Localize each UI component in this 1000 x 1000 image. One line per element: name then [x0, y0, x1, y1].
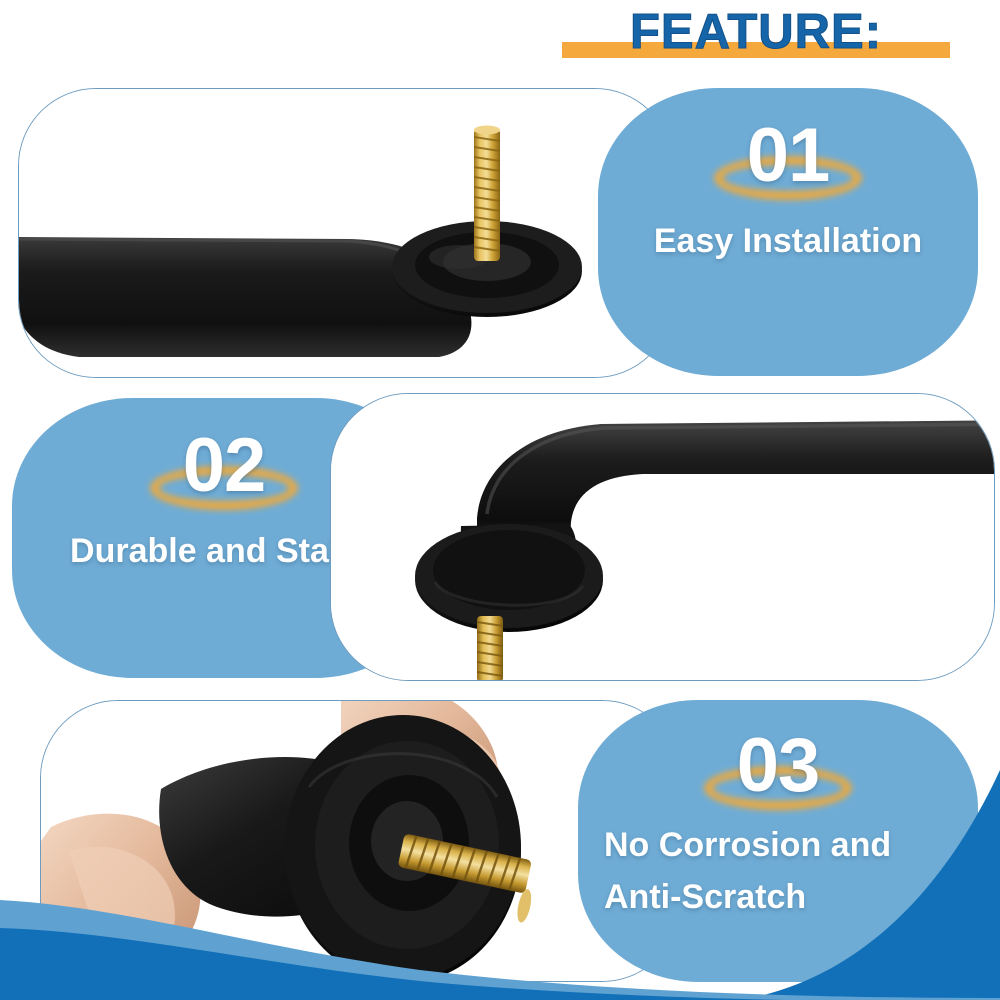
feature-caption-1: Easy Installation: [598, 220, 978, 262]
feature-card-1[interactable]: 01 Easy Installation: [598, 88, 978, 376]
title-block: FEATURE:: [556, 4, 956, 66]
feature-number-3: 03: [737, 720, 820, 812]
product-photo-panel-1: [18, 88, 673, 378]
feature-number-wrap-1: 01: [598, 110, 978, 206]
feature-infographic-page: FEATURE:: [0, 0, 1000, 1000]
product-photo-1-artwork: [19, 89, 673, 378]
feature-caption-3-line-1: No Corrosion and: [578, 824, 978, 866]
feature-number-1: 01: [747, 110, 830, 202]
header: FEATURE:: [0, 0, 1000, 72]
page-title: FEATURE:: [556, 4, 956, 60]
feature-number-wrap-3: 03: [578, 720, 978, 814]
product-photo-2-artwork: [331, 394, 995, 681]
feature-card-3[interactable]: 03 No Corrosion and Anti-Scratch: [578, 700, 978, 982]
product-photo-panel-2: [330, 393, 995, 681]
feature-number-2: 02: [183, 420, 266, 512]
feature-caption-3-line-2: Anti-Scratch: [578, 876, 978, 918]
